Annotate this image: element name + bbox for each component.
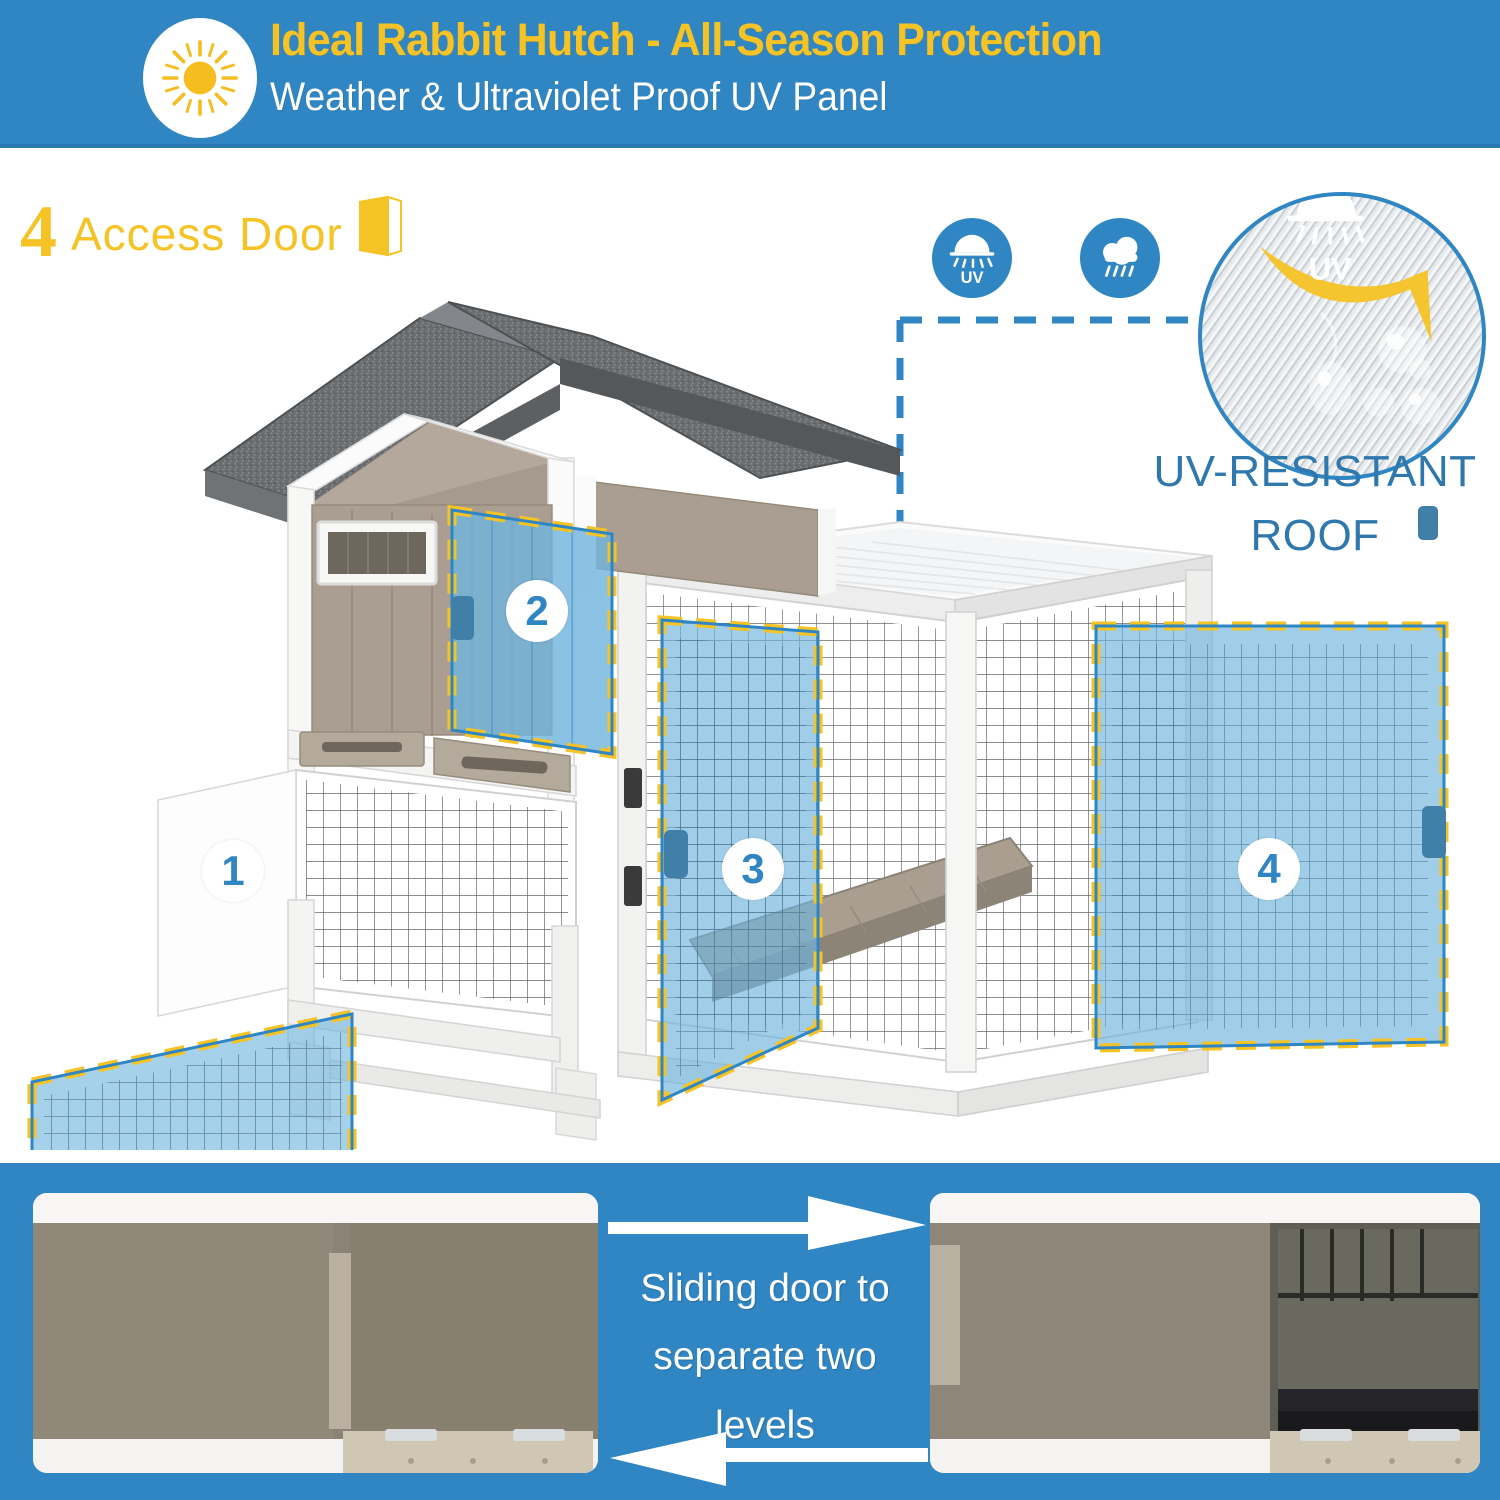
sliding-door-closed-photo xyxy=(33,1193,598,1473)
page-title: Ideal Rabbit Hutch - All-Season Protecti… xyxy=(270,16,1391,65)
door-3-badge: 3 xyxy=(722,838,784,900)
access-door-label: Access Door xyxy=(71,211,343,263)
page-subtitle: Weather & Ultraviolet Proof UV Panel xyxy=(270,75,1367,119)
cloud-rain-icon xyxy=(1080,218,1160,298)
door-1-badge: 1 xyxy=(202,840,264,902)
header-banner: Ideal Rabbit Hutch - All-Season Protecti… xyxy=(0,0,1500,148)
door-4-badge: 4 xyxy=(1238,838,1300,900)
arrow-left-icon xyxy=(608,1430,928,1490)
open-door-icon xyxy=(357,195,403,257)
header-text-block: Ideal Rabbit Hutch - All-Season Protecti… xyxy=(270,16,1450,119)
svg-text:UV: UV xyxy=(1309,252,1352,287)
arrow-right-icon xyxy=(608,1192,928,1252)
sun-icon xyxy=(143,18,257,138)
access-door-count: 4 xyxy=(20,202,57,263)
access-door-heading: 4 Access Door xyxy=(20,195,403,263)
sliding-door-caption-line2: separate two xyxy=(600,1323,930,1391)
door-2-badge: 2 xyxy=(506,580,568,642)
sliding-door-caption-line1: Sliding door to xyxy=(600,1255,930,1323)
sun-uv-icon: UV xyxy=(932,218,1012,298)
svg-text:UV: UV xyxy=(961,269,984,287)
rabbit-hutch-illustration xyxy=(0,300,1500,1150)
sliding-door-open-photo xyxy=(930,1193,1480,1473)
